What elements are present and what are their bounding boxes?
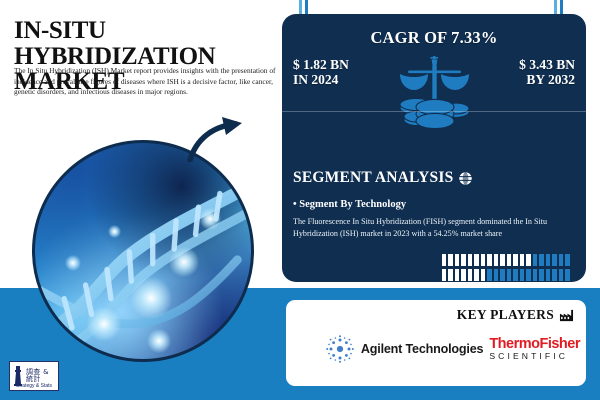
value-start-year: IN 2024 bbox=[293, 72, 349, 87]
brand-mark: 調查 & 統計 bbox=[26, 369, 56, 383]
market-value-2024: $ 1.82 BN IN 2024 bbox=[293, 57, 349, 87]
key-players-title: KEY PLAYERS bbox=[457, 307, 554, 323]
agilent-name: Agilent Technologies bbox=[361, 342, 483, 356]
thermofisher-wordmark: ThermoFisher bbox=[489, 337, 580, 352]
left-column: IN-SITU HYBRIDIZATION MARKET The In Situ… bbox=[0, 0, 282, 400]
key-players-logos: Agilent Technologies ThermoFisher SCIENT… bbox=[286, 334, 580, 364]
bar-segment bbox=[500, 254, 504, 266]
bar-segment bbox=[565, 254, 569, 266]
bar-segment bbox=[559, 254, 563, 266]
dna-helix-graphic bbox=[35, 143, 251, 359]
segment-analysis-heading: SEGMENT ANALYSIS bbox=[293, 169, 473, 187]
thermofisher-logo: ThermoFisher SCIENTIFIC bbox=[489, 337, 580, 361]
thermofisher-subtitle: SCIENTIFIC bbox=[489, 352, 580, 361]
bar-segment bbox=[539, 254, 543, 266]
bar-segment bbox=[507, 254, 511, 266]
bar-segment bbox=[448, 269, 452, 281]
bar-segment bbox=[474, 269, 478, 281]
bar-segment bbox=[461, 269, 465, 281]
market-value-2032: $ 3.43 BN BY 2032 bbox=[519, 57, 575, 87]
bar-segment bbox=[494, 254, 498, 266]
bar-segment bbox=[481, 269, 485, 281]
market-stats-card: CAGR OF 7.33% $ 1.82 BN IN 2024 $ 3.43 B… bbox=[282, 14, 586, 282]
bar-segment bbox=[468, 254, 472, 266]
bar-segment bbox=[487, 269, 491, 281]
balance-scale-with-coins-icon bbox=[394, 50, 476, 132]
bar-segment bbox=[526, 269, 530, 281]
bar-segment bbox=[500, 269, 504, 281]
bar-segment bbox=[546, 269, 550, 281]
value-end-year: BY 2032 bbox=[519, 72, 575, 87]
dna-helix-image bbox=[32, 140, 254, 362]
value-end-amount: $ 3.43 BN bbox=[519, 57, 575, 72]
brand-logo: 調查 & 統計 Strategy & Stats bbox=[9, 361, 59, 391]
factory-icon bbox=[559, 308, 574, 322]
infographic-root: IN-SITU HYBRIDIZATION MARKET The In Situ… bbox=[0, 0, 600, 400]
segment-bullet: • Segment By Technology bbox=[293, 199, 406, 210]
curved-growth-arrow-icon bbox=[186, 116, 250, 162]
segment-description: The Fluorescence In Situ Hybridization (… bbox=[293, 216, 573, 241]
bar-segment bbox=[552, 269, 556, 281]
bar-segment bbox=[442, 269, 446, 281]
agilent-logo: Agilent Technologies bbox=[325, 334, 483, 364]
brand-tagline: Strategy & Stats bbox=[12, 383, 56, 389]
bar-segment bbox=[520, 254, 524, 266]
bar-segment bbox=[442, 254, 446, 266]
bar-row bbox=[442, 254, 574, 266]
bar-row bbox=[442, 269, 574, 281]
bar-segment bbox=[552, 254, 556, 266]
bar-segment bbox=[507, 269, 511, 281]
bar-segment bbox=[494, 269, 498, 281]
market-share-bar-indicator bbox=[442, 254, 574, 282]
bar-segment bbox=[546, 254, 550, 266]
bar-segment bbox=[539, 269, 543, 281]
bar-segment bbox=[559, 269, 563, 281]
report-description: The In Situ Hybridization (ISH) Market r… bbox=[14, 66, 276, 98]
bar-segment bbox=[455, 269, 459, 281]
value-start-amount: $ 1.82 BN bbox=[293, 57, 349, 72]
bar-segment bbox=[455, 254, 459, 266]
bar-segment bbox=[533, 269, 537, 281]
bar-segment bbox=[448, 254, 452, 266]
bar-segment bbox=[468, 269, 472, 281]
key-players-panel: KEY PLAYERS bbox=[286, 300, 586, 386]
bar-segment bbox=[461, 254, 465, 266]
cagr-label: CAGR OF 7.33% bbox=[282, 28, 586, 48]
bar-segment bbox=[565, 269, 569, 281]
bar-segment bbox=[513, 254, 517, 266]
bar-segment bbox=[481, 254, 485, 266]
segment-analysis-title: SEGMENT ANALYSIS bbox=[293, 169, 453, 187]
globe-icon bbox=[458, 171, 473, 186]
bar-segment bbox=[533, 254, 537, 266]
agilent-starburst-icon bbox=[325, 334, 355, 364]
key-players-heading: KEY PLAYERS bbox=[457, 307, 574, 323]
bar-segment bbox=[487, 254, 491, 266]
bar-segment bbox=[474, 254, 478, 266]
bar-segment bbox=[513, 269, 517, 281]
bar-segment bbox=[526, 254, 530, 266]
bar-segment bbox=[520, 269, 524, 281]
